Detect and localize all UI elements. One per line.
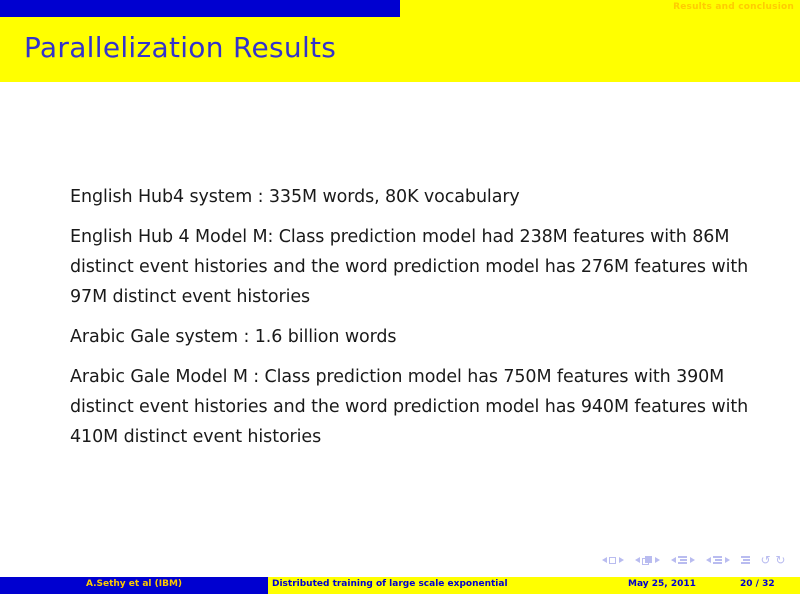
footer-presentation-title: Distributed training of large scale expo… [272,579,508,589]
triangle-right-icon[interactable] [655,557,660,563]
square-icon[interactable] [609,557,616,564]
previous-slide-nav[interactable] [671,556,695,564]
triangle-left-icon[interactable] [706,557,711,563]
slide: Results and conclusion Parallelization R… [0,0,800,600]
triangle-right-icon[interactable] [619,557,624,563]
list-item: Arabic Gale system : 1.6 billion words [70,322,778,352]
beamer-navigation-symbols: ↺ ↻ [602,554,786,566]
stacked-squares-icon[interactable] [642,556,652,565]
slide-footer: A.Sethy et al (IBM) Distributed training… [0,577,800,594]
first-frame-nav[interactable] [602,557,624,564]
back-forward-nav[interactable]: ↺ ↻ [761,554,786,566]
page-title: Parallelization Results [24,31,336,64]
section-navbar: Results and conclusion [0,0,800,17]
triangle-left-icon[interactable] [635,557,640,563]
previous-frame-nav[interactable] [635,556,660,565]
footer-author: A.Sethy et al (IBM) [0,579,268,589]
title-bar: Parallelization Results [0,17,800,82]
footer-date: May 25, 2011 [628,579,696,589]
triangle-left-icon[interactable] [671,557,676,563]
last-slide-nav[interactable] [741,556,750,564]
triangle-right-icon[interactable] [690,557,695,563]
triangle-right-icon[interactable] [725,557,730,563]
lines-icon[interactable] [741,556,750,564]
slide-body: English Hub4 system : 335M words, 80K vo… [0,82,800,547]
navbar-section-label[interactable]: Results and conclusion [673,2,794,12]
triangle-left-icon[interactable] [602,557,607,563]
bullet-list: English Hub4 system : 335M words, 80K vo… [70,182,778,462]
footer-page-number: 20 / 32 [740,579,775,589]
list-item: English Hub4 system : 335M words, 80K vo… [70,182,778,212]
lines-icon[interactable] [678,556,687,564]
list-item: English Hub 4 Model M: Class prediction … [70,222,778,312]
list-item: Arabic Gale Model M : Class prediction m… [70,362,778,452]
footer-bottom-strip [0,594,800,600]
next-slide-nav[interactable] [706,556,730,564]
lines-icon[interactable] [713,556,722,564]
navbar-blue-band [0,0,400,17]
